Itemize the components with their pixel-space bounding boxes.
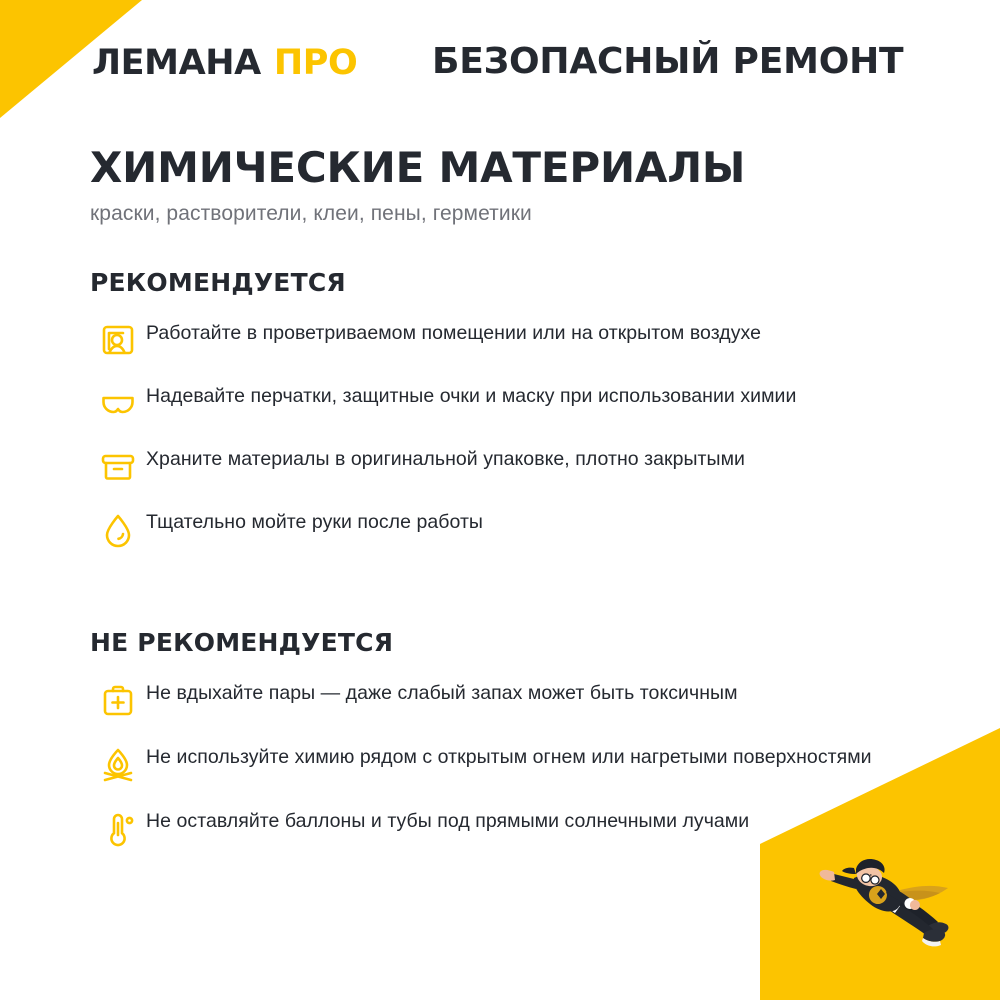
list-item: Работайте в проветриваемом помещении или…: [90, 319, 920, 369]
list-item: Надевайте перчатки, защитные очки и маск…: [90, 382, 920, 432]
list-item: Не используйте химию рядом с открытым ог…: [90, 743, 920, 793]
campfire-icon: [90, 743, 146, 793]
section-not-recommended: НЕ РЕКОМЕНДУЕТСЯ Не вдыхайте пары — даже…: [90, 628, 920, 871]
list-item-text: Не вдыхайте пары — даже слабый запах мож…: [146, 679, 920, 708]
poster-canvas: ЛЕМАНА ПРО БЕЗОПАСНЫЙ РЕМОНТ ХИМИЧЕСКИЕ …: [0, 0, 1000, 1000]
list-item-text: Работайте в проветриваемом помещении или…: [146, 319, 920, 348]
water-drop-icon: [90, 508, 146, 558]
list-item-text: Надевайте перчатки, защитные очки и маск…: [146, 382, 920, 411]
list-item-text: Тщательно мойте руки после работы: [146, 508, 920, 537]
page-title: ХИМИЧЕСКИЕ МАТЕРИАЛЫ: [90, 146, 745, 190]
window-ventilation-icon: [90, 319, 146, 369]
recommended-item-list: Работайте в проветриваемом помещении или…: [90, 319, 920, 558]
section-not-recommended-heading: НЕ РЕКОМЕНДУЕТСЯ: [90, 628, 920, 657]
first-aid-kit-icon: [90, 679, 146, 729]
brand-logo-main-text: ЛЕМАНА: [92, 46, 261, 81]
section-recommended: РЕКОМЕНДУЕТСЯ Работайте в проветриваемом…: [90, 268, 920, 571]
brand-logo-pro-text: ПРО: [274, 46, 358, 81]
list-item-text: Не используйте химию рядом с открытым ог…: [146, 743, 920, 772]
page-subtitle: краски, растворители, клеи, пены, гермет…: [90, 202, 745, 226]
list-item-text: Храните материалы в оригинальной упаковк…: [146, 445, 920, 474]
not-recommended-item-list: Не вдыхайте пары — даже слабый запах мож…: [90, 679, 920, 857]
list-item: Не вдыхайте пары — даже слабый запах мож…: [90, 679, 920, 729]
list-item-text: Не оставляйте баллоны и тубы под прямыми…: [146, 807, 920, 836]
title-block: ХИМИЧЕСКИЕ МАТЕРИАЛЫ краски, растворител…: [90, 146, 745, 226]
list-item: Тщательно мойте руки после работы: [90, 508, 920, 558]
list-item: Храните материалы в оригинальной упаковк…: [90, 445, 920, 495]
poster-header: ЛЕМАНА ПРО БЕЗОПАСНЫЙ РЕМОНТ: [0, 0, 1000, 118]
section-recommended-heading: РЕКОМЕНДУЕТСЯ: [90, 268, 920, 297]
campaign-title: БЕЗОПАСНЫЙ РЕМОНТ: [432, 44, 903, 80]
thermometer-icon: [90, 807, 146, 857]
storage-box-icon: [90, 445, 146, 495]
flying-superhero-mascot: [782, 838, 972, 958]
safety-goggles-icon: [90, 382, 146, 432]
brand-logo: ЛЕМАНА ПРО: [92, 46, 357, 81]
